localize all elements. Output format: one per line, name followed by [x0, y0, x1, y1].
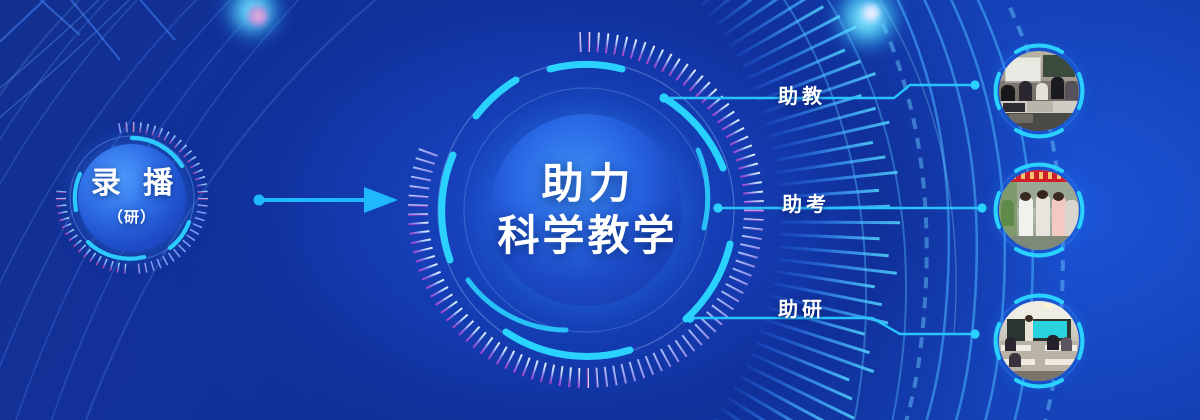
connector-dot-icon: [659, 93, 668, 102]
connector-dot-icon: [713, 203, 722, 212]
photo-ring-icon: [986, 288, 1092, 394]
connector-dot-icon: [970, 329, 979, 338]
photo-ring-icon: [986, 157, 1092, 263]
connector-dot-icon: [970, 80, 979, 89]
connector-dot-icon: [685, 313, 694, 322]
photo-node-assist-research[interactable]: [986, 288, 1092, 394]
tech-education-banner: 录 播 （研）: [0, 0, 1200, 420]
connector-path-2: [690, 318, 975, 334]
photo-node-assist-teaching[interactable]: [986, 38, 1092, 144]
branch-label-assist-research[interactable]: 助研: [778, 293, 826, 322]
photo-node-assist-exam[interactable]: [986, 157, 1092, 263]
branch-label-assist-exam[interactable]: 助考: [782, 188, 830, 217]
branch-label-assist-teaching[interactable]: 助教: [778, 80, 826, 109]
photo-ring-icon: [986, 38, 1092, 144]
